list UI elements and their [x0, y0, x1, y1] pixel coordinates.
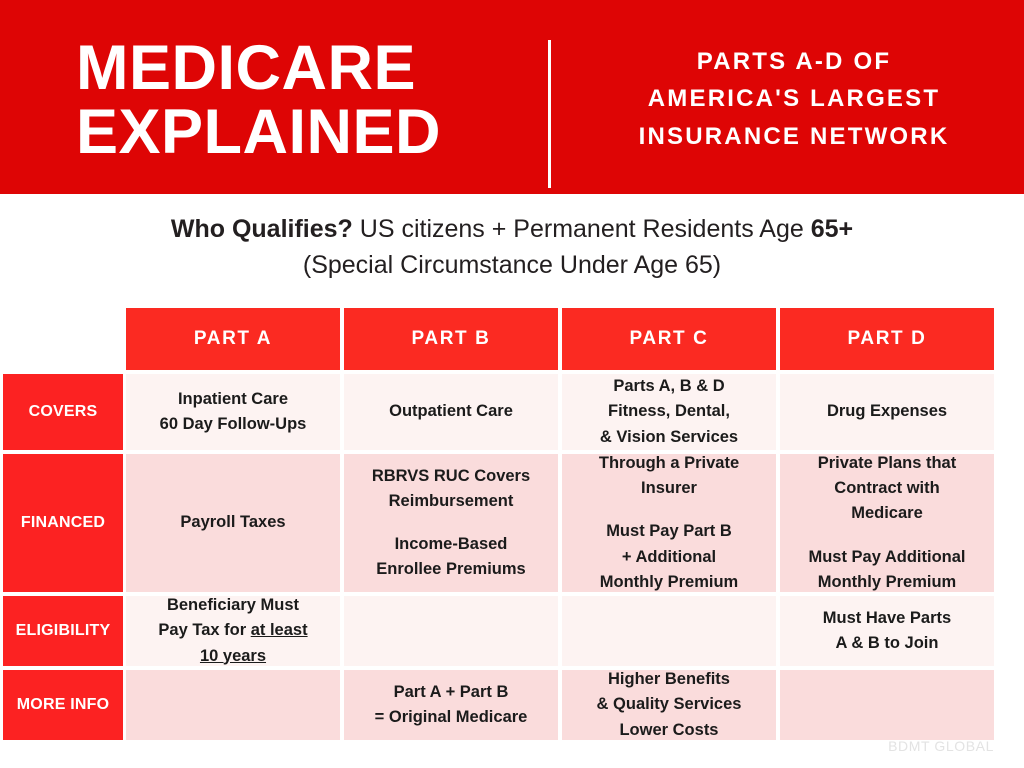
cell-line: Must Pay Part B [599, 519, 739, 544]
cell-line: Fitness, Dental, [600, 399, 738, 424]
banner-subtitle-line-3: INSURANCE NETWORK [639, 118, 950, 155]
banner-subtitle-line-1: PARTS A-D OF [697, 43, 891, 80]
cell-line: Pay Tax for at least [158, 618, 307, 643]
table-header-row: PART A PART B PART C PART D [0, 308, 1024, 370]
cell-line: Parts A, B & D [600, 374, 738, 399]
table-row: ELIGIBILITYBeneficiary MustPay Tax for a… [0, 596, 1024, 666]
cell-content: Through a PrivateInsurerMust Pay Part B+… [599, 451, 739, 594]
cell-line: Payroll Taxes [180, 510, 285, 535]
watermark: BDMT GLOBAL [888, 738, 994, 754]
row-label-text: MORE INFO [3, 670, 123, 740]
cell-line: Lower Costs [597, 718, 742, 743]
cell-line: Must Pay Additional [808, 545, 965, 570]
cell-line: Insurer [599, 476, 739, 501]
cell-more-info-part-b: Part A + Part B= Original Medicare [344, 670, 558, 740]
who-qualifies-label: Who Qualifies? [171, 215, 353, 243]
who-qualifies-line-1: Who Qualifies? US citizens + Permanent R… [0, 212, 1024, 248]
cell-line: 60 Day Follow-Ups [160, 412, 307, 437]
cell-line: Part A + Part B [375, 680, 528, 705]
cell-line: Higher Benefits [597, 667, 742, 692]
row-label-text: FINANCED [3, 454, 123, 592]
cell-content: Parts A, B & DFitness, Dental,& Vision S… [600, 374, 738, 449]
banner-subtitle-group: PARTS A-D OF AMERICA'S LARGEST INSURANCE… [548, 0, 1024, 194]
cell-content: Outpatient Care [389, 399, 513, 424]
cell-financed-part-b: RBRVS RUC CoversReimbursementIncome-Base… [344, 454, 558, 592]
row-label-more-info: MORE INFO [0, 670, 126, 740]
cell-line: Income-Based [372, 532, 530, 557]
column-header-part-c: PART C [562, 308, 776, 370]
cell-line: A & B to Join [823, 631, 951, 656]
cell-line-gap [599, 501, 739, 519]
cell-more-info-part-d [780, 670, 994, 740]
row-label-eligibility: ELIGIBILITY [0, 596, 126, 666]
cell-financed-part-d: Private Plans thatContract withMedicareM… [780, 454, 994, 592]
cell-content: Payroll Taxes [180, 510, 285, 535]
header-banner: MEDICARE EXPLAINED PARTS A-D OF AMERICA'… [0, 0, 1024, 194]
row-label-text: COVERS [3, 374, 123, 450]
column-header-part-b: PART B [344, 308, 558, 370]
who-qualifies-age: 65+ [811, 215, 853, 243]
row-gap [0, 740, 1024, 744]
who-qualifies-section: Who Qualifies? US citizens + Permanent R… [0, 212, 1024, 283]
cell-line: Reimbursement [372, 489, 530, 514]
cell-line: Monthly Premium [808, 570, 965, 595]
table-row: COVERSInpatient Care60 Day Follow-UpsOut… [0, 374, 1024, 450]
cell-covers-part-c: Parts A, B & DFitness, Dental,& Vision S… [562, 374, 776, 450]
cell-content: Must Have PartsA & B to Join [823, 606, 951, 656]
cell-line: & Quality Services [597, 692, 742, 717]
cell-covers-part-d: Drug Expenses [780, 374, 994, 450]
header-corner-spacer [0, 308, 126, 370]
banner-title-line-1: MEDICARE [76, 36, 548, 100]
cell-line: Contract with [808, 476, 965, 501]
cell-content: Drug Expenses [827, 399, 947, 424]
table-row: FINANCEDPayroll TaxesRBRVS RUC CoversRei… [0, 454, 1024, 592]
cell-content: Higher Benefits& Quality ServicesLower C… [597, 667, 742, 742]
cell-content: Part A + Part B= Original Medicare [375, 680, 528, 730]
cell-line: + Additional [599, 545, 739, 570]
banner-divider [548, 40, 551, 188]
cell-content: RBRVS RUC CoversReimbursementIncome-Base… [372, 464, 530, 582]
cell-line: & Vision Services [600, 425, 738, 450]
cell-eligibility-part-d: Must Have PartsA & B to Join [780, 596, 994, 666]
cell-line: Monthly Premium [599, 570, 739, 595]
row-label-text: ELIGIBILITY [3, 596, 123, 666]
cell-more-info-part-a [126, 670, 340, 740]
banner-title-group: MEDICARE EXPLAINED [0, 0, 548, 194]
banner-title-line-2: EXPLAINED [76, 100, 548, 164]
cell-financed-part-a: Payroll Taxes [126, 454, 340, 592]
medicare-parts-table: PART A PART B PART C PART D COVERSInpati… [0, 308, 1024, 744]
cell-more-info-part-c: Higher Benefits& Quality ServicesLower C… [562, 670, 776, 740]
who-qualifies-body: US citizens + Permanent Residents Age [353, 215, 811, 243]
column-header-part-a: PART A [126, 308, 340, 370]
cell-content: Inpatient Care60 Day Follow-Ups [160, 387, 307, 437]
cell-line: Beneficiary Must [158, 593, 307, 618]
cell-line: RBRVS RUC Covers [372, 464, 530, 489]
cell-line: Inpatient Care [160, 387, 307, 412]
cell-line-gap [372, 514, 530, 532]
cell-line: 10 years [158, 644, 307, 669]
cell-line-gap [808, 527, 965, 545]
cell-covers-part-a: Inpatient Care60 Day Follow-Ups [126, 374, 340, 450]
cell-eligibility-part-c [562, 596, 776, 666]
cell-content: Private Plans thatContract withMedicareM… [808, 451, 965, 594]
cell-covers-part-b: Outpatient Care [344, 374, 558, 450]
cell-line: Through a Private [599, 451, 739, 476]
cell-eligibility-part-b [344, 596, 558, 666]
column-header-part-d: PART D [780, 308, 994, 370]
cell-line: Private Plans that [808, 451, 965, 476]
cell-line: Outpatient Care [389, 399, 513, 424]
cell-line: Medicare [808, 501, 965, 526]
cell-line: = Original Medicare [375, 705, 528, 730]
cell-eligibility-part-a: Beneficiary MustPay Tax for at least10 y… [126, 596, 340, 666]
table-body: COVERSInpatient Care60 Day Follow-UpsOut… [0, 374, 1024, 744]
row-label-financed: FINANCED [0, 454, 126, 592]
banner-subtitle-line-2: AMERICA'S LARGEST [648, 80, 940, 117]
cell-line: Enrollee Premiums [372, 557, 530, 582]
cell-content: Beneficiary MustPay Tax for at least10 y… [158, 593, 307, 668]
cell-line: Must Have Parts [823, 606, 951, 631]
cell-line: Drug Expenses [827, 399, 947, 424]
table-row: MORE INFOPart A + Part B= Original Medic… [0, 670, 1024, 740]
row-label-covers: COVERS [0, 374, 126, 450]
cell-financed-part-c: Through a PrivateInsurerMust Pay Part B+… [562, 454, 776, 592]
who-qualifies-line-2: (Special Circumstance Under Age 65) [0, 248, 1024, 284]
